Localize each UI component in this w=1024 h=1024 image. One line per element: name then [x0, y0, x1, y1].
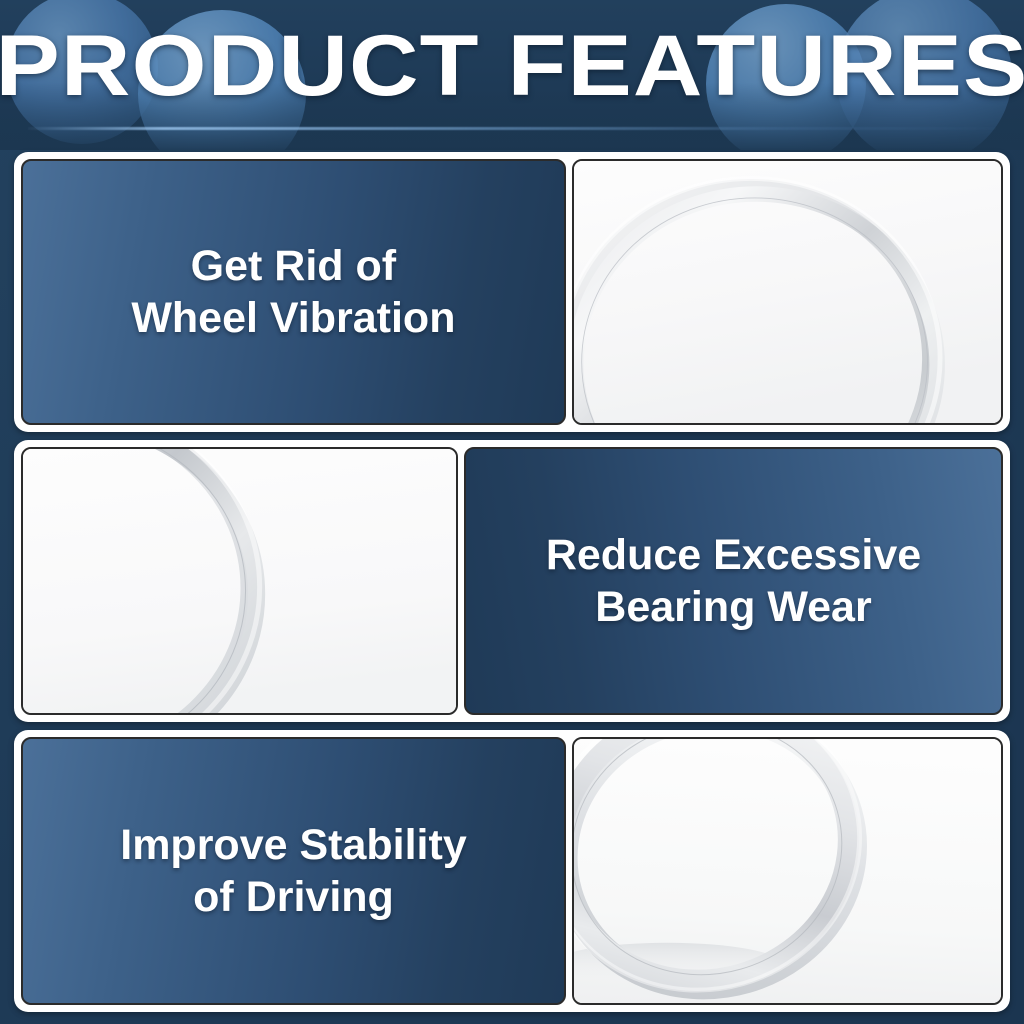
hub-centric-ring-photo-1 [572, 159, 1003, 425]
feature-heading-3-line-1: Improve Stability [120, 821, 466, 869]
feature-card-1: Get Rid of Wheel Vibration [14, 152, 1010, 432]
feature-text-panel-1: Get Rid of Wheel Vibration [21, 159, 566, 425]
feature-heading-1: Get Rid of Wheel Vibration [117, 240, 469, 345]
ring-illustration-1 [574, 161, 1001, 423]
feature-heading-2: Reduce Excessive Bearing Wear [532, 529, 935, 634]
feature-text-panel-2: Reduce Excessive Bearing Wear [464, 447, 1003, 715]
feature-heading-3: Improve Stability of Driving [106, 819, 480, 924]
hub-centric-ring-photo-3 [572, 737, 1003, 1005]
feature-card-2: Reduce Excessive Bearing Wear [14, 440, 1010, 722]
feature-heading-2-line-1: Reduce Excessive [546, 531, 921, 579]
feature-card-list: Get Rid of Wheel Vibration [14, 152, 1010, 1012]
ring-illustration-3 [574, 739, 1001, 1003]
poster-header: PRODUCT FEATURES [0, 0, 1024, 150]
feature-heading-2-line-2: Bearing Wear [595, 583, 871, 631]
feature-card-3: Improve Stability of Driving [14, 730, 1010, 1012]
ring-illustration-2 [23, 449, 456, 713]
feature-text-panel-3: Improve Stability of Driving [21, 737, 566, 1005]
hub-centric-ring-photo-2 [21, 447, 458, 715]
feature-heading-1-line-1: Get Rid of [191, 242, 396, 290]
feature-heading-1-line-2: Wheel Vibration [131, 294, 455, 342]
title-accent-line [28, 127, 996, 130]
page-title: PRODUCT FEATURES [0, 18, 1024, 114]
product-features-poster: PRODUCT FEATURES Get Rid of Wheel Vibrat… [0, 0, 1024, 1024]
feature-heading-3-line-2: of Driving [193, 873, 394, 921]
